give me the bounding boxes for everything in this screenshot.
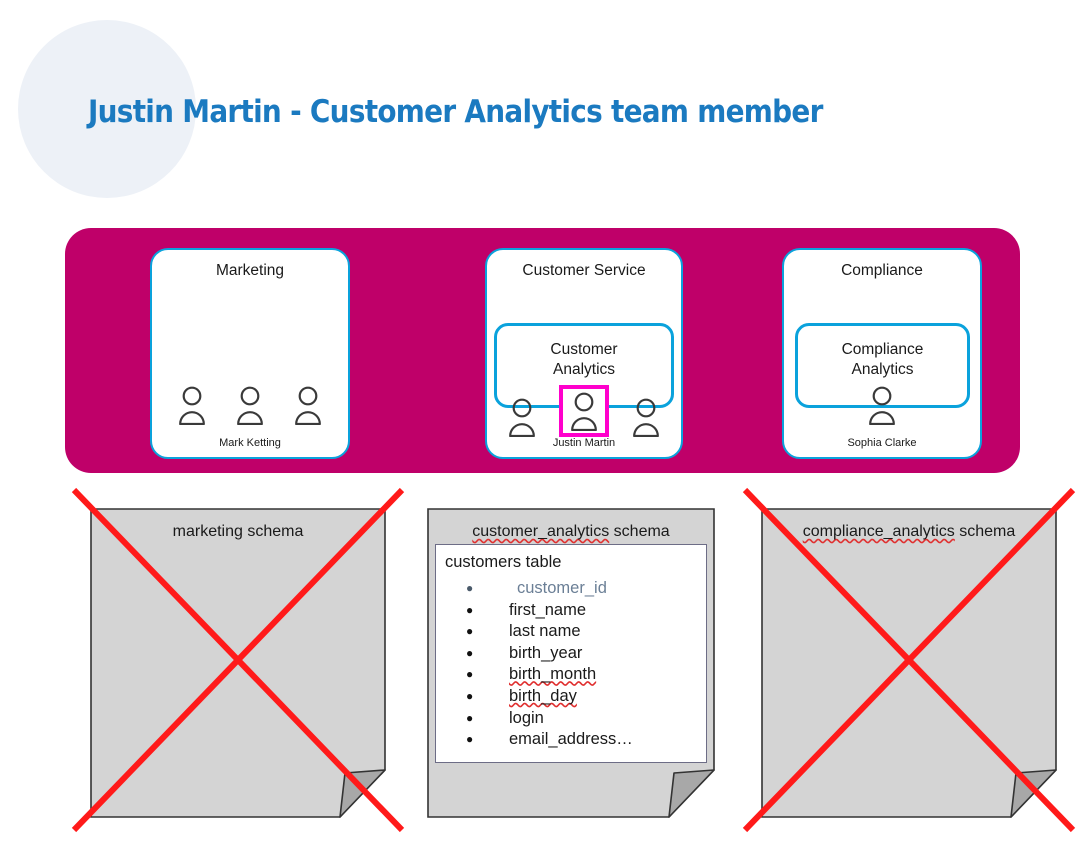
- schema-document-title: marketing schema: [90, 523, 386, 541]
- person-icon[interactable]: [291, 385, 325, 425]
- column-label: birth_day: [509, 687, 577, 705]
- page-title: Justin Martin - Customer Analytics team …: [88, 88, 823, 136]
- column-label: first_name: [509, 601, 586, 619]
- person-icon[interactable]: [505, 397, 539, 437]
- column-label: login: [509, 709, 544, 727]
- schema-document-compliance-analytics[interactable]: compliance_analytics schema: [761, 508, 1057, 818]
- column-list-item[interactable]: last name: [445, 621, 633, 643]
- column-label: birth_year: [509, 644, 582, 662]
- column-list-item[interactable]: first_name: [445, 600, 633, 622]
- column-label: customer_id: [517, 579, 607, 597]
- subteam-label-line1: Compliance: [842, 341, 924, 358]
- schema-document-title: customer_analytics schema: [427, 523, 715, 541]
- department-person-label: Sophia Clarke: [784, 437, 980, 449]
- people-row-customer-service: [485, 385, 683, 437]
- person-icon-highlighted-justin-martin[interactable]: [559, 385, 609, 437]
- department-person-label: Mark Ketting: [152, 437, 348, 449]
- subteam-label: Customer Analytics: [497, 340, 671, 380]
- people-row-compliance: [782, 385, 982, 425]
- column-label: email_address…: [509, 730, 633, 748]
- department-person-label: Justin Martin: [487, 437, 681, 449]
- table-name: customers table: [445, 553, 561, 572]
- person-icon[interactable]: [629, 397, 663, 437]
- department-title: Compliance: [784, 262, 980, 280]
- column-list-item[interactable]: customer_id: [445, 578, 633, 600]
- department-title: Marketing: [152, 262, 348, 280]
- schema-title-suffix: schema: [609, 523, 669, 540]
- schema-title-suffix: schema: [955, 523, 1015, 540]
- department-title: Customer Service: [487, 262, 681, 280]
- column-list-item[interactable]: email_address…: [445, 729, 633, 751]
- person-icon[interactable]: [233, 385, 267, 425]
- column-label: last name: [509, 622, 581, 640]
- schema-title-misspelled-part: customer_analytics: [472, 523, 609, 540]
- department-card-marketing[interactable]: Marketing Mark Ketting: [150, 248, 350, 459]
- column-list-item[interactable]: birth_year: [445, 643, 633, 665]
- column-list-item[interactable]: login: [445, 708, 633, 730]
- subteam-label-line2: Analytics: [851, 361, 913, 378]
- schema-title-misspelled-part: compliance_analytics: [803, 523, 955, 540]
- schema-document-title: compliance_analytics schema: [761, 523, 1057, 541]
- subteam-label: Compliance Analytics: [798, 340, 967, 380]
- column-list: customer_id first_name last name birth_y…: [445, 578, 633, 751]
- schema-document-marketing[interactable]: marketing schema: [90, 508, 386, 818]
- subteam-label-line2: Analytics: [553, 361, 615, 378]
- column-list-item[interactable]: birth_day: [445, 686, 633, 708]
- column-list-item[interactable]: birth_month: [445, 664, 633, 686]
- people-row-marketing: [150, 385, 350, 425]
- subteam-label-line1: Customer: [550, 341, 617, 358]
- customers-table-panel: customers table customer_id first_name l…: [435, 544, 707, 763]
- column-label: birth_month: [509, 665, 596, 683]
- person-icon[interactable]: [865, 385, 899, 425]
- person-icon[interactable]: [175, 385, 209, 425]
